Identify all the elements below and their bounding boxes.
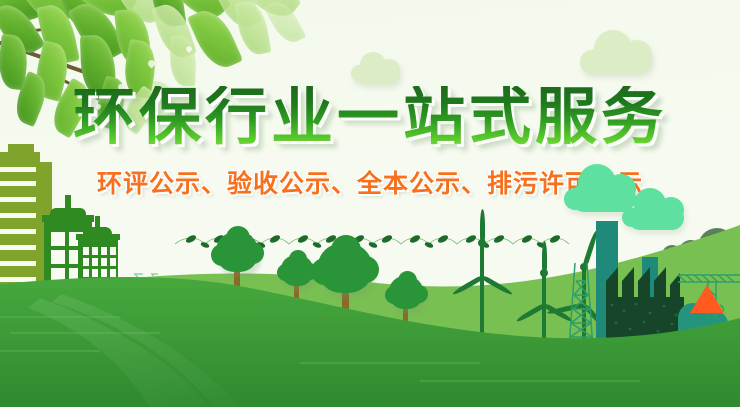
tall-building-roof-2 (50, 208, 86, 215)
short-building-spire (95, 216, 100, 227)
tall-building-roof (42, 215, 94, 222)
tower-cap (0, 152, 40, 162)
hill-front (0, 232, 740, 407)
tower-cap-upper (8, 144, 34, 153)
eco-banner: 环保行业一站式服务 环评公示、验收公示、全本公示、排污许可公示 (0, 0, 740, 407)
leaf (264, 0, 307, 48)
page-title: 环保行业一站式服务 (73, 86, 667, 148)
cloud-top-right (578, 28, 664, 74)
smoke-plume-mint-right (622, 188, 692, 234)
cloud-center-top (350, 50, 408, 84)
tall-building-spire (65, 195, 71, 208)
